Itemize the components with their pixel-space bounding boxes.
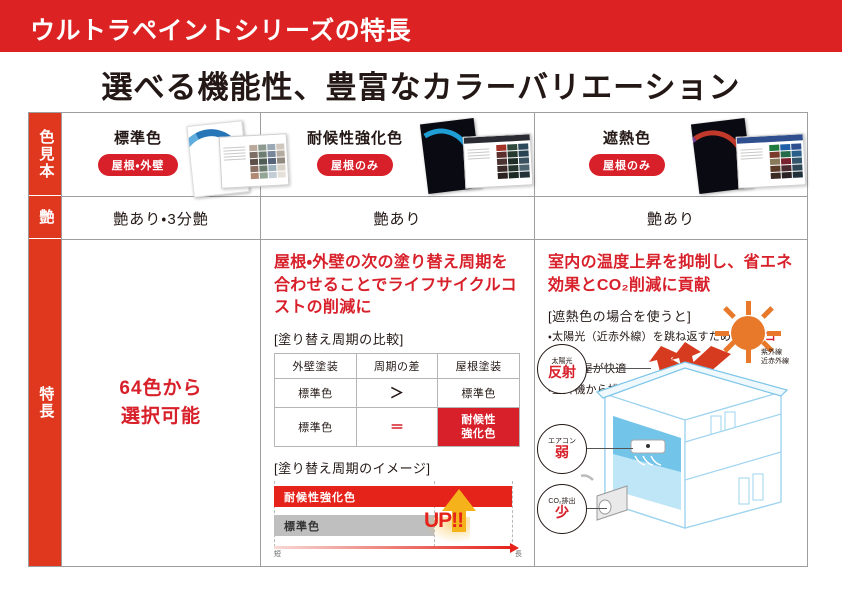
callout-aircon-main: 弱 (555, 445, 569, 460)
catalog-artwork-heat (695, 119, 800, 193)
product-name-heat: 遮熱色 (557, 127, 697, 148)
catalog-artwork-weather (424, 119, 524, 193)
col-header-difference: 周期の差 (356, 354, 438, 379)
row-header-gloss: 艶 (29, 196, 61, 239)
cycle-comparison-table: 外壁塗装 周期の差 屋根塗装 標準色 ＞ 標準色 標準色 ＝ 耐候性 強化色 (274, 353, 520, 447)
cell-roof-2: 耐候性 強化色 (438, 408, 520, 447)
color-sample-cell-weather: 耐候性強化色 屋根のみ (261, 113, 534, 196)
cell-diff-1: ＞ (356, 379, 438, 408)
cell-exterior-2: 標準色 (275, 408, 357, 447)
bar-standard: 標準色 (274, 515, 434, 536)
color-sample-label-standard: 標準色 屋根・外壁 (76, 127, 200, 176)
chart-card-header-bar (737, 134, 803, 143)
chart-card-header-bar (464, 134, 530, 143)
up-arrow-icon (442, 489, 476, 511)
table-row: 標準色 ＞ 標準色 (275, 379, 520, 408)
product-name-weather: 耐候性強化色 (285, 127, 425, 148)
bar-label-standard: 標準色 (284, 518, 320, 534)
gloss-cell-standard: 艶あり・3分艶 (62, 197, 260, 239)
gloss-value-standard: 艶あり・3分艶 (113, 208, 208, 229)
row-header-color-sample-label: 色見本 (36, 129, 55, 180)
page-header-bar: ウルトラペイントシリーズの特長 (0, 0, 842, 52)
color-sample-label-weather: 耐候性強化色 屋根のみ (285, 127, 425, 176)
chart-text-lines (467, 148, 490, 161)
feature-heading-heat: 室内の温度上昇を抑制し、省エネ効果とCO₂削減に貢献 (548, 252, 800, 297)
callout-co2: CO₂排出 少 (537, 484, 587, 534)
sun-label-line1: 紫外線 (761, 348, 789, 357)
product-name-standard: 標準色 (76, 127, 200, 148)
feature-text-standard-line1: 64色から (119, 375, 202, 404)
catalog-artwork-standard (190, 121, 260, 193)
col-header-exterior: 外壁塗装 (275, 354, 357, 379)
callout-sunlight-reflection: 太陽光 反射 (537, 344, 587, 394)
feature-heading-weather: 屋根・外壁の次の塗り替え周期を合わせることでライフサイクルコストの削減に (274, 252, 522, 320)
chart-text-lines (223, 146, 246, 162)
row-header-color-sample: 色見本 (29, 113, 61, 196)
up-label: UP!! (424, 509, 463, 533)
table-row: 標準色 ＝ 耐候性 強化色 (275, 408, 520, 447)
axis-label-max: 長 (515, 549, 522, 559)
swatch-grid-heat (769, 143, 803, 179)
swatch-grid-weather (496, 143, 530, 179)
sun-label: 紫外線 近赤外線 (761, 348, 789, 366)
color-sample-cell-standard: 標準色 屋根・外壁 (62, 113, 260, 196)
usage-badge-heat: 屋根のみ (589, 154, 665, 176)
col-header-roof: 屋根塗装 (438, 354, 520, 379)
cell-roof-1: 標準色 (438, 379, 520, 408)
gloss-cell-weather: 艶あり (261, 197, 534, 239)
row-header-gloss-label: 艶 (36, 209, 55, 226)
bar-weather-resistant: 耐候性強化色 (274, 486, 512, 507)
cell-exterior-1: 標準色 (275, 379, 357, 408)
cell-diff-2: ＝ (356, 408, 438, 447)
color-chart-card-heat (736, 133, 807, 188)
usage-badge-weather: 屋根のみ (317, 154, 393, 176)
row-header-feature-label: 特長 (36, 386, 55, 420)
callout-sunlight-main: 反射 (548, 365, 576, 380)
chart-axis (274, 546, 512, 549)
cycle-bar-chart: 耐候性強化色 標準色 UP!! 短 長 (274, 481, 520, 559)
callout-leader-line (585, 368, 651, 369)
gloss-cell-heat: 艶あり (535, 197, 807, 239)
sun-icon (731, 316, 765, 350)
gloss-value-heat: 艶あり (647, 208, 695, 229)
table-header-row: 外壁塗装 周期の差 屋根塗装 (275, 354, 520, 379)
usage-badge-standard: 屋根・外壁 (98, 154, 179, 176)
feature-cell-weather: 屋根・外壁の次の塗り替え周期を合わせることでライフサイクルコストの削減に [塗り… (261, 240, 534, 566)
gloss-value-weather: 艶あり (373, 208, 421, 229)
color-chart-card-weather (463, 133, 534, 188)
comparison-table: 色見本 艶 特長 標準色 屋根・外壁 (28, 112, 808, 567)
chart-text-lines (740, 148, 763, 161)
color-sample-label-heat: 遮熱色 屋根のみ (557, 127, 697, 176)
sun-label-line2: 近赤外線 (761, 357, 789, 366)
bar-label-weather: 耐候性強化色 (284, 489, 356, 505)
page-title: ウルトラペイントシリーズの特長 (30, 11, 411, 47)
callout-leader-line (585, 448, 633, 449)
callout-leader-line (585, 508, 607, 509)
feature-text-standard: 64色から 選択可能 (119, 375, 202, 432)
chart-dashed-line-right (512, 481, 514, 547)
feature-text-standard-line2: 選択可能 (119, 403, 202, 432)
cycle-image-label: [塗り替え周期のイメージ] (274, 458, 534, 477)
color-sample-cell-heat: 遮熱色 屋根のみ (535, 113, 807, 196)
callout-aircon: エアコン 弱 (537, 424, 587, 474)
feature-cell-standard: 64色から 選択可能 (62, 240, 260, 566)
callout-co2-main: 少 (555, 505, 569, 520)
house-illustration: 紫外線 近赤外線 (535, 332, 805, 537)
sun-ray (746, 301, 751, 315)
page-subtitle: 選べる機能性、豊富なカラーバリエーション (0, 62, 842, 107)
row-header-feature: 特長 (29, 239, 61, 566)
compare-section-label: [塗り替え周期の比較] (274, 329, 534, 348)
axis-label-min: 短 (274, 549, 281, 559)
feature-cell-heat: 室内の温度上昇を抑制し、省エネ効果とCO₂削減に貢献 [遮熱色の場合を使うと] … (535, 240, 807, 566)
